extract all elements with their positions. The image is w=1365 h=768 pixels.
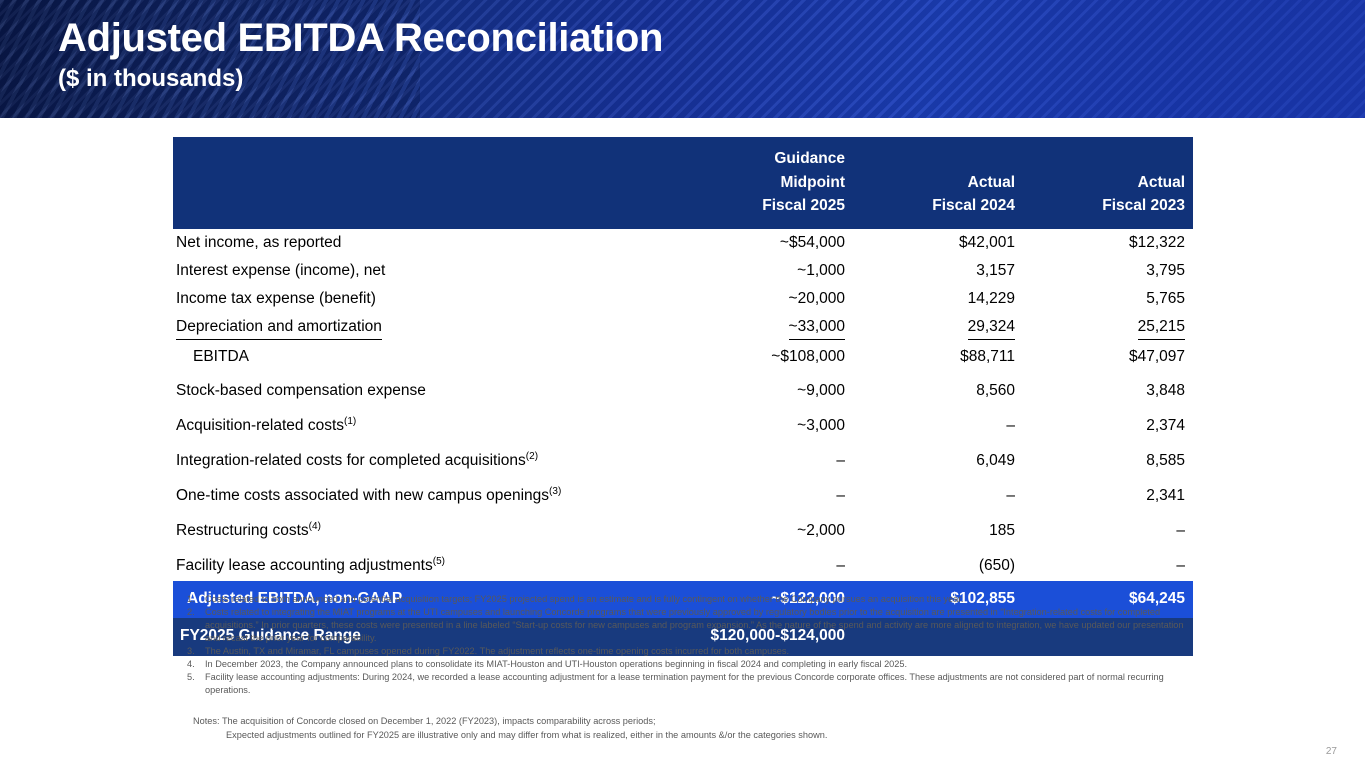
table-row: Facility lease accounting adjustments(5)… xyxy=(173,546,1193,581)
row-value-fy2023: $47,097 xyxy=(1023,343,1193,371)
row-value-fy2024: (650) xyxy=(853,546,1023,581)
page-title: Adjusted EBITDA Reconciliation xyxy=(58,17,663,60)
column-header-line1: Actual xyxy=(968,174,1015,191)
footnote-text: Costs related to both announced and pote… xyxy=(205,593,1198,606)
table-row: One-time costs associated with new campu… xyxy=(173,476,1193,511)
column-header-blank xyxy=(173,137,683,229)
row-label-text: Facility lease accounting adjustments xyxy=(176,557,433,574)
row-value-fy2024: 8,560 xyxy=(853,371,1023,406)
header-text-block: Adjusted EBITDA Reconciliation ($ in tho… xyxy=(58,17,663,93)
row-value-fy2025: ~1,000 xyxy=(683,257,853,285)
table-row: Restructuring costs(4) ~2,000 185 – xyxy=(173,511,1193,546)
row-value-fy2025: ~$108,000 xyxy=(683,343,853,371)
row-value-fy2025: – xyxy=(683,476,853,511)
page-subtitle: ($ in thousands) xyxy=(58,65,663,93)
row-value-fy2024: 185 xyxy=(853,511,1023,546)
row-value-fy2024: 29,324 xyxy=(853,313,1023,343)
ebitda-reconciliation-table: Guidance Midpoint Fiscal 2025 Actual Fis… xyxy=(173,137,1193,656)
column-header-line1: Guidance xyxy=(774,150,845,167)
footnote-item: 2. Costs related to integrating the MIAT… xyxy=(183,606,1198,645)
footnote-text: The Austin, TX and Miramar, FL campuses … xyxy=(205,645,1198,658)
row-label: Depreciation and amortization xyxy=(173,313,683,343)
slide-header-banner: Adjusted EBITDA Reconciliation ($ in tho… xyxy=(0,0,1365,118)
column-header-actual-fiscal-2024: Actual Fiscal 2024 xyxy=(853,137,1023,229)
row-value-fy2023: 8,585 xyxy=(1023,441,1193,476)
column-header-line3: Fiscal 2025 xyxy=(762,197,845,214)
footnote-number: 2. xyxy=(183,606,205,619)
footnote-marker: (5) xyxy=(433,555,445,566)
row-label-text: Acquisition-related costs xyxy=(176,417,344,434)
row-value-fy2024: 3,157 xyxy=(853,257,1023,285)
row-value-text: 25,215 xyxy=(1138,316,1185,340)
footnote-text: Costs related to integrating the MIAT pr… xyxy=(205,606,1198,645)
row-value-fy2024: 14,229 xyxy=(853,285,1023,313)
notes-block: Notes: The acquisition of Concorde close… xyxy=(193,715,1203,743)
row-value-fy2025: – xyxy=(683,546,853,581)
row-value-fy2023: 25,215 xyxy=(1023,313,1193,343)
row-value-fy2025: – xyxy=(683,441,853,476)
notes-line-1: Notes: The acquisition of Concorde close… xyxy=(193,715,1203,729)
column-header-guidance-midpoint-fiscal-2025: Guidance Midpoint Fiscal 2025 xyxy=(683,137,853,229)
footnote-item: 4. In December 2023, the Company announc… xyxy=(183,658,1198,671)
row-value-fy2024: $88,711 xyxy=(853,343,1023,371)
table-row: Stock-based compensation expense ~9,000 … xyxy=(173,371,1193,406)
table-header-row: Guidance Midpoint Fiscal 2025 Actual Fis… xyxy=(173,137,1193,229)
row-value-fy2025: ~20,000 xyxy=(683,285,853,313)
footnote-marker: (4) xyxy=(309,520,321,531)
footnote-marker: (3) xyxy=(549,485,561,496)
footnote-item: 5. Facility lease accounting adjustments… xyxy=(183,671,1198,697)
footnote-number: 5. xyxy=(183,671,205,684)
row-value-fy2023: 3,795 xyxy=(1023,257,1193,285)
column-header-line2: Midpoint xyxy=(780,174,845,191)
table-row: Integration-related costs for completed … xyxy=(173,441,1193,476)
row-value-fy2023: 2,374 xyxy=(1023,406,1193,441)
row-value-fy2023: 5,765 xyxy=(1023,285,1193,313)
row-label: Integration-related costs for completed … xyxy=(173,441,683,476)
notes-line-2: Expected adjustments outlined for FY2025… xyxy=(193,729,1203,743)
table-row: Net income, as reported ~$54,000 $42,001… xyxy=(173,229,1193,257)
page-number: 27 xyxy=(1326,746,1337,757)
row-value-text: 29,324 xyxy=(968,316,1015,340)
footnotes-list: 1. Costs related to both announced and p… xyxy=(183,593,1198,698)
row-value-fy2023: – xyxy=(1023,546,1193,581)
row-label-text: Depreciation and amortization xyxy=(176,316,382,340)
row-value-fy2024: 6,049 xyxy=(853,441,1023,476)
row-value-fy2025: ~9,000 xyxy=(683,371,853,406)
row-label: Net income, as reported xyxy=(173,229,683,257)
row-value-fy2024: $42,001 xyxy=(853,229,1023,257)
row-value-fy2025: ~2,000 xyxy=(683,511,853,546)
column-header-actual-fiscal-2023: Actual Fiscal 2023 xyxy=(1023,137,1193,229)
row-value-fy2024: – xyxy=(853,476,1023,511)
ebitda-reconciliation-table-wrapper: Guidance Midpoint Fiscal 2025 Actual Fis… xyxy=(173,137,1193,656)
footnote-number: 3. xyxy=(183,645,205,658)
table-row: Income tax expense (benefit) ~20,000 14,… xyxy=(173,285,1193,313)
row-value-fy2024: – xyxy=(853,406,1023,441)
footnote-marker: (2) xyxy=(526,450,538,461)
column-header-line1: Actual xyxy=(1138,174,1185,191)
table-row-ebitda-subtotal: EBITDA ~$108,000 $88,711 $47,097 xyxy=(173,343,1193,371)
column-header-line2: Fiscal 2024 xyxy=(932,197,1015,214)
row-value-fy2023: 3,848 xyxy=(1023,371,1193,406)
footnote-item: 3. The Austin, TX and Miramar, FL campus… xyxy=(183,645,1198,658)
row-value-fy2025: ~3,000 xyxy=(683,406,853,441)
column-header-line2: Fiscal 2023 xyxy=(1102,197,1185,214)
table-row-subtotal-rule: Depreciation and amortization ~33,000 29… xyxy=(173,313,1193,343)
footnote-number: 1. xyxy=(183,593,205,606)
row-label-text: One-time costs associated with new campu… xyxy=(176,487,549,504)
row-value-fy2025: ~33,000 xyxy=(683,313,853,343)
row-value-fy2025: ~$54,000 xyxy=(683,229,853,257)
row-label: Income tax expense (benefit) xyxy=(173,285,683,313)
footnote-text: Facility lease accounting adjustments: D… xyxy=(205,671,1198,697)
row-label: One-time costs associated with new campu… xyxy=(173,476,683,511)
footnote-number: 4. xyxy=(183,658,205,671)
table-row: Acquisition-related costs(1) ~3,000 – 2,… xyxy=(173,406,1193,441)
footnote-item: 1. Costs related to both announced and p… xyxy=(183,593,1198,606)
row-label: Acquisition-related costs(1) xyxy=(173,406,683,441)
row-label-text: Integration-related costs for completed … xyxy=(176,452,526,469)
row-label: Stock-based compensation expense xyxy=(173,371,683,406)
row-label: Interest expense (income), net xyxy=(173,257,683,285)
table-header: Guidance Midpoint Fiscal 2025 Actual Fis… xyxy=(173,137,1193,229)
row-value-text: ~33,000 xyxy=(789,316,845,340)
footnote-text: In December 2023, the Company announced … xyxy=(205,658,1198,671)
row-value-fy2023: 2,341 xyxy=(1023,476,1193,511)
row-label: Restructuring costs(4) xyxy=(173,511,683,546)
row-value-fy2023: $12,322 xyxy=(1023,229,1193,257)
row-value-fy2023: – xyxy=(1023,511,1193,546)
table-row: Interest expense (income), net ~1,000 3,… xyxy=(173,257,1193,285)
footnote-marker: (1) xyxy=(344,415,356,426)
row-label-text: Restructuring costs xyxy=(176,522,309,539)
row-label: Facility lease accounting adjustments(5) xyxy=(173,546,683,581)
table-body: Net income, as reported ~$54,000 $42,001… xyxy=(173,229,1193,656)
row-label: EBITDA xyxy=(173,343,683,371)
